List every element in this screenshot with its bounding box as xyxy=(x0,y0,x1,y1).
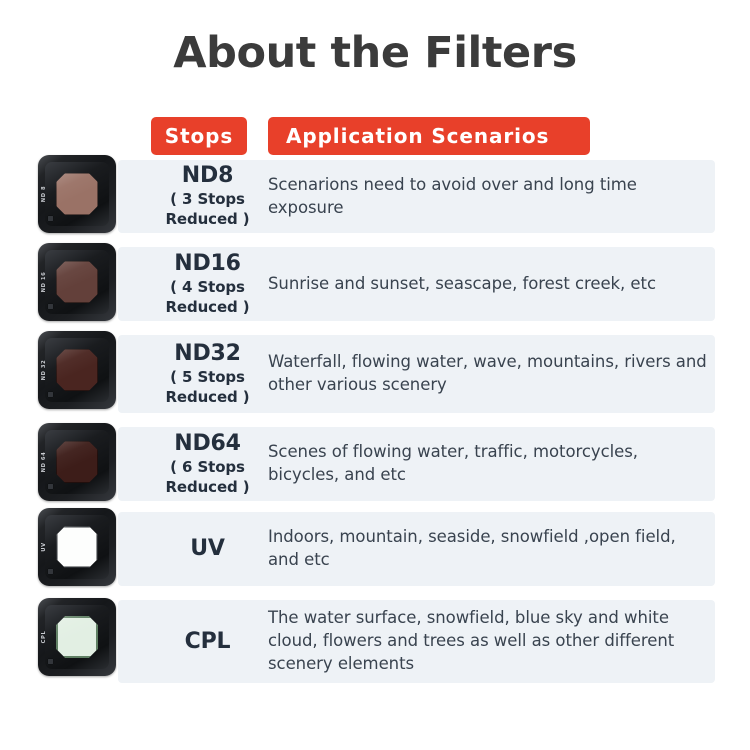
stops-cell: UV xyxy=(140,512,275,586)
filter-frame: UV xyxy=(38,508,116,586)
filter-name: UV xyxy=(190,536,225,562)
filter-frame: ND 16 xyxy=(38,243,116,321)
nd64-filter-thumbnail: ND 64 xyxy=(38,423,116,501)
filter-name: ND8 xyxy=(182,163,233,189)
filter-thumbnail-label: CPL xyxy=(41,631,47,644)
filter-glass xyxy=(56,526,98,568)
stops-note-line1: ( 3 Stops xyxy=(170,190,245,209)
table-row: ND16( 4 StopsReduced )Sunrise and sunset… xyxy=(118,247,715,321)
filter-corner-notch xyxy=(47,568,54,575)
filter-name: ND64 xyxy=(174,431,241,457)
table-row: UVIndoors, mountain, seaside, snowfield … xyxy=(118,512,715,586)
filter-frame-inner xyxy=(45,250,109,314)
stops-note-line2: Reduced ) xyxy=(165,478,249,497)
filter-frame: ND 64 xyxy=(38,423,116,501)
filter-corner-notch xyxy=(47,483,54,490)
filter-glass xyxy=(56,616,98,658)
filter-glass xyxy=(56,349,98,391)
table-row: ND32( 5 StopsReduced )Waterfall, flowing… xyxy=(118,335,715,413)
application-scenario-cell: The water surface, snowfield, blue sky a… xyxy=(268,600,708,683)
stops-note-line2: Reduced ) xyxy=(165,210,249,229)
table-row: ND64( 6 StopsReduced )Scenes of flowing … xyxy=(118,427,715,501)
filter-corner-notch xyxy=(47,215,54,222)
application-scenario-text: Scenarions need to avoid over and long t… xyxy=(268,174,708,220)
filter-corner-notch xyxy=(47,658,54,665)
application-scenario-text: Waterfall, flowing water, wave, mountain… xyxy=(268,351,708,397)
filter-corner-notch xyxy=(47,303,54,310)
filter-thumbnail-label: ND 16 xyxy=(41,272,47,293)
application-scenario-cell: Scenarions need to avoid over and long t… xyxy=(268,160,708,233)
stops-cell: ND16( 4 StopsReduced ) xyxy=(140,247,275,321)
filter-frame: CPL xyxy=(38,598,116,676)
application-scenario-cell: Waterfall, flowing water, wave, mountain… xyxy=(268,335,708,413)
stops-note-line1: ( 6 Stops xyxy=(170,458,245,477)
filter-frame-inner xyxy=(45,605,109,669)
nd32-filter-thumbnail: ND 32 xyxy=(38,331,116,409)
filter-frame: ND 32 xyxy=(38,331,116,409)
stops-note-line1: ( 4 Stops xyxy=(170,278,245,297)
stops-note-line2: Reduced ) xyxy=(165,388,249,407)
stops-cell: CPL xyxy=(140,600,275,683)
application-scenario-cell: Scenes of flowing water, traffic, motorc… xyxy=(268,427,708,501)
filter-glass xyxy=(56,441,98,483)
stops-note-line1: ( 5 Stops xyxy=(170,368,245,387)
table-row: ND8( 3 StopsReduced )Scenarions need to … xyxy=(118,160,715,233)
filter-thumbnail-label: UV xyxy=(41,542,47,551)
application-scenario-cell: Sunrise and sunset, seascape, forest cre… xyxy=(268,247,708,321)
filter-thumbnail-label: ND 32 xyxy=(41,360,47,381)
stops-note-line2: Reduced ) xyxy=(165,298,249,317)
filter-thumbnail-label: ND 8 xyxy=(41,186,47,202)
filter-info-infographic: About the Filters Stops Application Scen… xyxy=(0,0,750,750)
application-scenario-text: Indoors, mountain, seaside, snowfield ,o… xyxy=(268,526,708,572)
filter-name: ND16 xyxy=(174,251,241,277)
cpl-filter-thumbnail: CPL xyxy=(38,598,116,676)
uv-filter-thumbnail: UV xyxy=(38,508,116,586)
filter-thumbnail-label: ND 64 xyxy=(41,452,47,473)
filter-frame-inner xyxy=(45,430,109,494)
application-scenario-text: The water surface, snowfield, blue sky a… xyxy=(268,607,708,675)
filter-frame: ND 8 xyxy=(38,155,116,233)
application-scenario-text: Sunrise and sunset, seascape, forest cre… xyxy=(268,273,656,296)
filter-name: CPL xyxy=(185,629,231,655)
filter-name: ND32 xyxy=(174,341,241,367)
stops-cell: ND64( 6 StopsReduced ) xyxy=(140,427,275,501)
nd8-filter-thumbnail: ND 8 xyxy=(38,155,116,233)
nd16-filter-thumbnail: ND 16 xyxy=(38,243,116,321)
table-row: CPLThe water surface, snowfield, blue sk… xyxy=(118,600,715,683)
filter-frame-inner xyxy=(45,515,109,579)
application-scenario-text: Scenes of flowing water, traffic, motorc… xyxy=(268,441,708,487)
application-scenario-cell: Indoors, mountain, seaside, snowfield ,o… xyxy=(268,512,708,586)
filter-corner-notch xyxy=(47,391,54,398)
filter-frame-inner xyxy=(45,338,109,402)
filter-glass xyxy=(56,261,98,303)
stops-cell: ND8( 3 StopsReduced ) xyxy=(140,160,275,233)
filter-frame-inner xyxy=(45,162,109,226)
filter-glass xyxy=(56,173,98,215)
stops-cell: ND32( 5 StopsReduced ) xyxy=(140,335,275,413)
filter-table-body: ND 8ND8( 3 StopsReduced )Scenarions need… xyxy=(0,0,750,750)
